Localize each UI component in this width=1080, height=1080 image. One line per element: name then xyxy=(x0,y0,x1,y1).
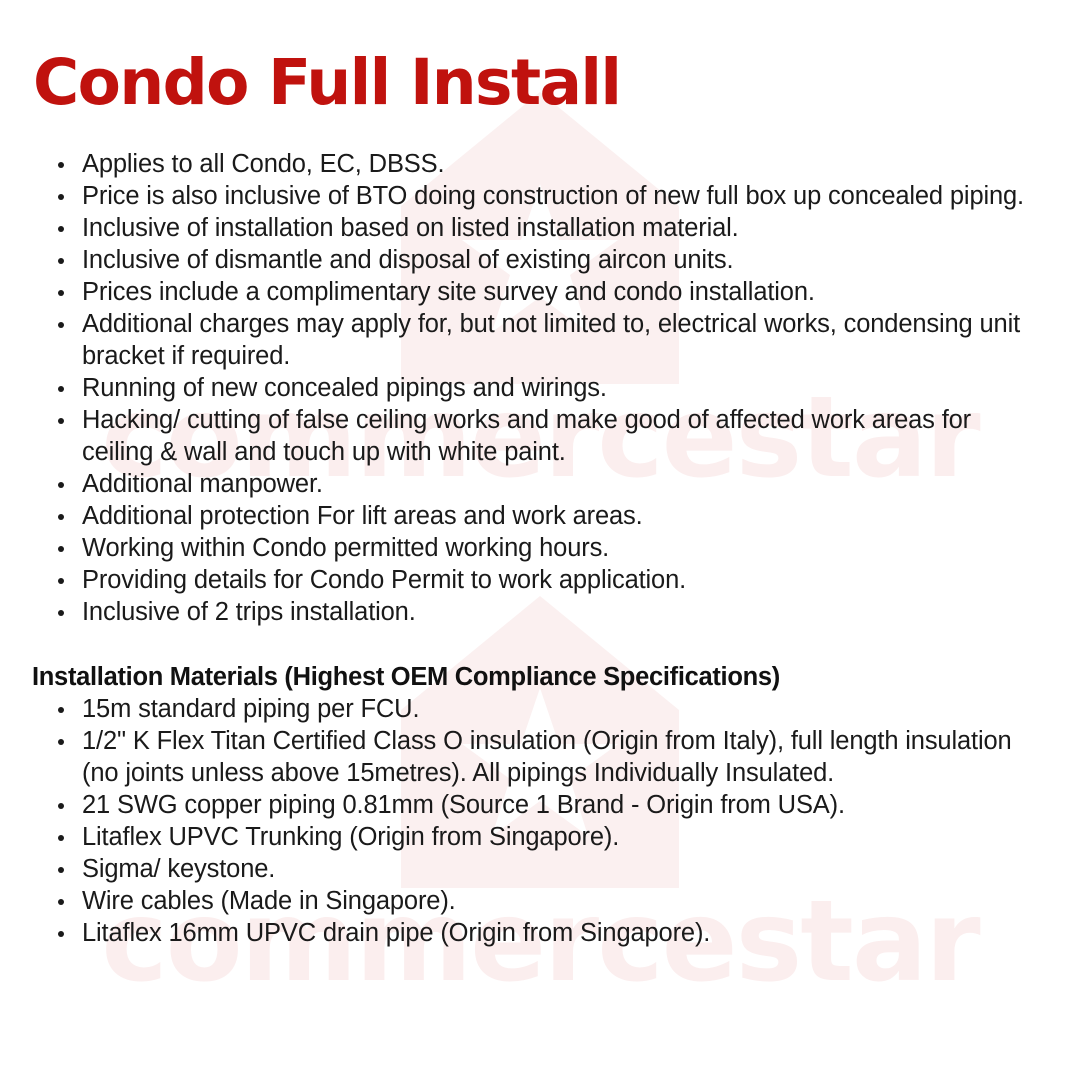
list-item: Inclusive of 2 trips installation. xyxy=(0,596,1080,628)
list-item: Running of new concealed pipings and wir… xyxy=(0,372,1080,404)
list-item: Additional manpower. xyxy=(0,468,1080,500)
section-spacer xyxy=(0,628,1080,661)
list-item: Prices include a complimentary site surv… xyxy=(0,276,1080,308)
materials-list: 15m standard piping per FCU. 1/2" K Flex… xyxy=(0,693,1080,949)
document-body: Applies to all Condo, EC, DBSS. Price is… xyxy=(0,148,1080,949)
list-item: Litaflex 16mm UPVC drain pipe (Origin fr… xyxy=(0,917,1080,949)
list-item: Inclusive of dismantle and disposal of e… xyxy=(0,244,1080,276)
list-item: Inclusive of installation based on liste… xyxy=(0,212,1080,244)
list-item: Additional protection For lift areas and… xyxy=(0,500,1080,532)
list-item: Litaflex UPVC Trunking (Origin from Sing… xyxy=(0,821,1080,853)
list-item: 21 SWG copper piping 0.81mm (Source 1 Br… xyxy=(0,789,1080,821)
list-item: Providing details for Condo Permit to wo… xyxy=(0,564,1080,596)
list-item: 1/2" K Flex Titan Certified Class O insu… xyxy=(0,725,1080,789)
list-item: Working within Condo permitted working h… xyxy=(0,532,1080,564)
scope-list: Applies to all Condo, EC, DBSS. Price is… xyxy=(0,148,1080,628)
list-item: Price is also inclusive of BTO doing con… xyxy=(0,180,1080,212)
document-page: commercestar commercestar Condo Full Ins… xyxy=(0,0,1080,1080)
list-item: Additional charges may apply for, but no… xyxy=(0,308,1080,372)
list-item: Applies to all Condo, EC, DBSS. xyxy=(0,148,1080,180)
list-item: Hacking/ cutting of false ceiling works … xyxy=(0,404,1080,468)
list-item: 15m standard piping per FCU. xyxy=(0,693,1080,725)
list-item: Sigma/ keystone. xyxy=(0,853,1080,885)
page-title: Condo Full Install xyxy=(33,50,620,116)
materials-section-heading: Installation Materials (Highest OEM Comp… xyxy=(0,661,1080,693)
list-item: Wire cables (Made in Singapore). xyxy=(0,885,1080,917)
